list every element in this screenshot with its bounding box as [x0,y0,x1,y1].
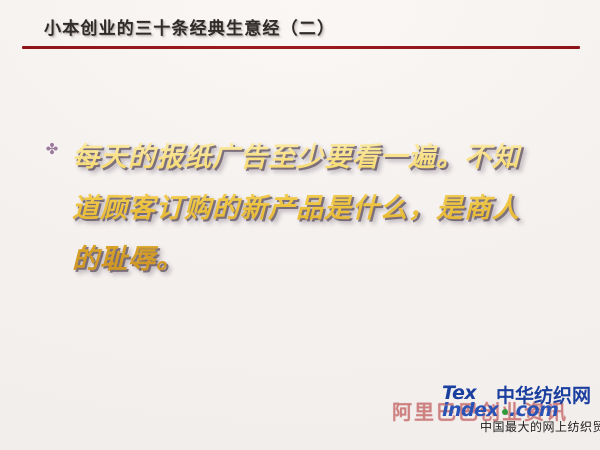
maple-leaf-bullet-icon: ✤ [44,142,60,158]
body-paragraph-text: 每天的报纸广告至少要看一遍。不知 道顾客订购的新产品是什么，是商人 的耻辱。 [72,132,574,285]
texindex-logo: Tex 中华纺织网 index .com 中国最大的网上纺织贸易市场 [440,382,600,448]
page-title: 小本创业的三十条经典生意经（二） [44,14,335,39]
title-divider-rule [22,46,580,49]
slide-body-block: ✤ 每天的报纸广告至少要看一遍。不知 道顾客订购的新产品是什么，是商人 的耻辱。 [44,132,574,285]
slide-title-block: 小本创业的三十条经典生意经（二） [22,14,580,54]
watermark-area: 阿里巴巴创业资讯 Tex 中华纺织网 index .com 中国最大的网上纺织贸… [392,382,600,448]
texindex-green-dot-icon [502,409,508,415]
bullet-list-item: ✤ 每天的报纸广告至少要看一遍。不知 道顾客订购的新产品是什么，是商人 的耻辱。 [44,132,574,285]
presentation-slide: 小本创业的三十条经典生意经（二） ✤ 每天的报纸广告至少要看一遍。不知 道顾客订… [0,0,600,450]
texindex-tagline-text: 中国最大的网上纺织贸易市场 [480,418,600,435]
